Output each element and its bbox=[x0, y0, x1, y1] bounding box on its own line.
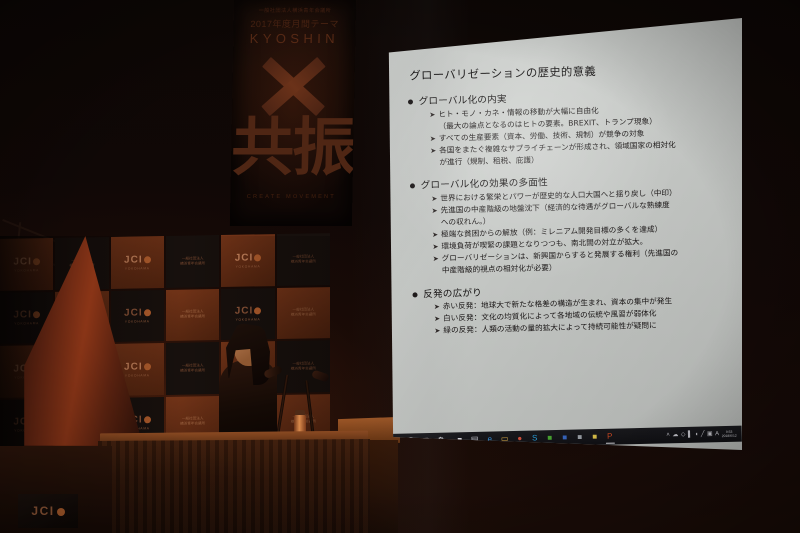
backdrop-org-text: 一般社団法人横浜青年会議所 bbox=[180, 256, 205, 266]
jci-logo-sublabel: YOKOHAMA bbox=[125, 320, 150, 324]
settings-gear[interactable]: ⚙ bbox=[434, 434, 448, 448]
backdrop-jci-logo-cell: JCIYOKOHAMA bbox=[221, 234, 274, 286]
backdrop-org-text: 一般社団法人横浜青年会議所 bbox=[291, 361, 316, 371]
volume-icon[interactable]: ◖ bbox=[695, 432, 699, 438]
backdrop-org-text: 一般社団法人横浜青年会議所 bbox=[180, 363, 205, 373]
powerpoint-app[interactable]: P bbox=[603, 430, 617, 444]
slide-block-heading-text: 反発の広がり bbox=[423, 285, 482, 300]
podium-body bbox=[98, 439, 370, 533]
banner-tagline: CREATE MOVEMENT bbox=[230, 194, 352, 200]
taskbar-clock[interactable]: 9:532018/6/12 bbox=[722, 430, 737, 439]
battery-icon[interactable]: ▌ bbox=[688, 432, 692, 438]
backdrop-jci-logo-cell: JCIYOKOHAMA bbox=[0, 238, 53, 290]
slide-sub-bullet-list: ➤ヒト・モノ・カネ・情報の移動が大幅に自由化（最大の論点となるのはヒトの要素。B… bbox=[429, 102, 737, 168]
projection-screen: グローバリゼーションの歴史的意義 グローバル化の内実➤ヒト・モノ・カネ・情報の移… bbox=[386, 18, 742, 450]
task-view[interactable]: ▢ bbox=[419, 434, 433, 448]
slide-block: グローバル化の内実➤ヒト・モノ・カネ・情報の移動が大幅に自由化（最大の論点となる… bbox=[408, 86, 738, 169]
backdrop-text-cell: 一般社団法人横浜青年会議所 bbox=[277, 233, 330, 285]
arrow-bullet-icon: ➤ bbox=[434, 314, 443, 325]
microsoft-store-glyph: ■ bbox=[457, 436, 462, 444]
app-grey-1[interactable]: ■ bbox=[573, 430, 587, 444]
slide-sub-bullet-list: ➤赤い反発：地球大で新たな格差の構造が生まれ、資本の集中が発生➤白い反発：文化の… bbox=[434, 295, 742, 337]
jci-globe-icon bbox=[144, 363, 151, 370]
jci-logo: JCI bbox=[124, 254, 151, 265]
settings-gear-glyph: ⚙ bbox=[437, 437, 444, 445]
app-green-1-glyph: ■ bbox=[547, 434, 552, 442]
slide-sub-bullet-list: ➤世界における繁栄とパワーが歴史的な人口大国へと揺り戻し（中印）➤先進国の中産階… bbox=[431, 187, 740, 277]
jci-globe-icon bbox=[144, 417, 151, 424]
app-yellow-1-glyph: ■ bbox=[592, 433, 597, 441]
slide-block-heading-text: グローバル化の効果の多面性 bbox=[420, 175, 548, 192]
task-view-glyph: ▢ bbox=[422, 437, 430, 445]
slide-block: 反発の広がり➤赤い反発：地球大で新たな格差の構造が生まれ、資本の集中が発生➤白い… bbox=[412, 279, 741, 338]
backdrop-org-text: 一般社団法人横浜青年会議所 bbox=[180, 417, 205, 427]
backdrop-jci-logo-cell: JCIYOKOHAMA bbox=[111, 290, 164, 342]
banner-romaji: KYOSHIN bbox=[233, 31, 355, 46]
jci-globe-icon bbox=[33, 311, 40, 318]
jci-stage-sign: JCI bbox=[18, 494, 78, 528]
backdrop-org-text: 一般社団法人横浜青年会議所 bbox=[291, 308, 316, 318]
slide-sub-bullet-text: への収れん。） bbox=[441, 217, 491, 229]
chrome-browser-glyph: ● bbox=[517, 435, 522, 443]
jci-globe-icon bbox=[57, 508, 65, 516]
arrow-bullet-icon: ➤ bbox=[432, 242, 441, 253]
jci-logo: JCI bbox=[13, 256, 40, 267]
jci-logo: JCI bbox=[235, 252, 262, 263]
backdrop-org-text: 一般社団法人横浜青年会議所 bbox=[180, 310, 205, 320]
action-center-icon[interactable]: ▣ bbox=[707, 431, 713, 437]
jci-logo-sublabel: YOKOHAMA bbox=[236, 264, 261, 268]
microsoft-store[interactable]: ■ bbox=[453, 433, 467, 447]
arrow-bullet-icon: ➤ bbox=[434, 302, 443, 313]
bullet-dot-icon bbox=[410, 184, 415, 189]
banner-org-line: 一般社団法人横浜青年会議所 bbox=[234, 7, 356, 14]
document-app[interactable]: ▤ bbox=[468, 433, 482, 447]
backdrop-text-cell: 一般社団法人横浜青年会議所 bbox=[166, 342, 219, 394]
clock-date: 2018/6/12 bbox=[722, 434, 737, 439]
arrow-bullet-icon: ➤ bbox=[430, 133, 439, 144]
app-grey-1-glyph: ■ bbox=[577, 433, 582, 441]
banner-theme-line: 2017年度月間テーマ bbox=[234, 17, 356, 30]
network-icon[interactable]: ◇ bbox=[681, 432, 686, 438]
file-explorer-glyph: ▭ bbox=[501, 435, 509, 443]
jci-globe-icon bbox=[144, 256, 151, 263]
arrow-bullet-icon: ➤ bbox=[431, 194, 440, 205]
jci-globe-icon bbox=[254, 308, 261, 315]
jci-logo-sublabel: YOKOHAMA bbox=[125, 373, 150, 377]
jci-logo-sublabel: YOKOHAMA bbox=[14, 321, 39, 325]
pen-icon[interactable]: ╱ bbox=[701, 431, 705, 437]
app-yellow-1[interactable]: ■ bbox=[588, 430, 602, 444]
cortana-search[interactable]: ◯ bbox=[404, 434, 418, 448]
powerpoint-app-glyph: P bbox=[607, 433, 613, 441]
backdrop-text-cell: 一般社団法人横浜青年会議所 bbox=[277, 287, 330, 339]
edge-browser-glyph: e bbox=[487, 436, 492, 444]
backdrop-org-text: 一般社団法人横浜青年会議所 bbox=[291, 254, 316, 264]
ime-indicator[interactable]: A bbox=[715, 431, 719, 437]
cortana-search-glyph: ◯ bbox=[406, 437, 415, 445]
backdrop-text-cell: 一般社団法人横浜青年会議所 bbox=[166, 289, 219, 341]
bullet-dot-icon bbox=[412, 292, 417, 297]
skype-app[interactable]: S bbox=[528, 431, 542, 445]
arrow-bullet-icon: ➤ bbox=[434, 326, 443, 337]
app-green-1[interactable]: ■ bbox=[543, 431, 557, 445]
jci-logo: JCI bbox=[124, 308, 151, 319]
banner-x-mark-icon bbox=[256, 56, 331, 116]
app-blue-1[interactable]: ■ bbox=[558, 431, 572, 445]
app-blue-1-glyph: ■ bbox=[562, 434, 567, 442]
slide-sub-bullet-text: 中産階級的視点の相対化が必要） bbox=[442, 263, 557, 276]
jci-logo: JCI bbox=[235, 306, 262, 317]
jci-sign-logo: JCI bbox=[31, 504, 64, 518]
document-app-glyph: ▤ bbox=[471, 436, 479, 444]
jci-globe-icon bbox=[33, 258, 40, 265]
start-button-glyph: ⊞ bbox=[392, 438, 399, 446]
slide-block: グローバル化の効果の多面性➤世界における繁栄とパワーが歴史的な人口大国へと揺り戻… bbox=[410, 170, 740, 277]
bullet-dot-icon bbox=[408, 99, 413, 104]
onedrive-icon[interactable]: ☁ bbox=[672, 432, 678, 438]
jci-logo-sublabel: YOKOHAMA bbox=[236, 318, 261, 322]
edge-browser[interactable]: e bbox=[483, 432, 497, 446]
slide-title: グローバリゼーションの歴史的意義 bbox=[409, 63, 596, 83]
slide-body: グローバル化の内実➤ヒト・モノ・カネ・情報の移動が大幅に自由化（最大の論点となる… bbox=[408, 86, 742, 347]
file-explorer[interactable]: ▭ bbox=[498, 432, 512, 446]
event-theme-banner: 一般社団法人横浜青年会議所 2017年度月間テーマ KYOSHIN 共振 CRE… bbox=[230, 0, 356, 226]
slide-block-heading-text: グローバル化の内実 bbox=[418, 91, 506, 107]
jci-globe-icon bbox=[144, 310, 151, 317]
arrow-bullet-icon: ➤ bbox=[431, 206, 440, 217]
arrow-bullet-icon: ➤ bbox=[433, 254, 442, 265]
backdrop-text-cell: 一般社団法人横浜青年会議所 bbox=[166, 235, 219, 287]
arrow-bullet-icon: ➤ bbox=[430, 145, 439, 156]
show-hidden-icons[interactable]: ˄ bbox=[666, 432, 670, 438]
backdrop-jci-logo-cell: JCIYOKOHAMA bbox=[111, 236, 164, 288]
projection-screen-area: グローバリゼーションの歴史的意義 グローバル化の内実➤ヒト・モノ・カネ・情報の移… bbox=[386, 18, 742, 450]
jci-logo: JCI bbox=[124, 361, 151, 372]
jci-logo-sublabel: YOKOHAMA bbox=[14, 268, 39, 272]
chrome-browser[interactable]: ● bbox=[513, 432, 527, 446]
arrow-bullet-icon: ➤ bbox=[429, 109, 438, 120]
presentation-slide: グローバリゼーションの歴史的意義 グローバル化の内実➤ヒト・モノ・カネ・情報の移… bbox=[386, 18, 742, 450]
system-tray[interactable]: ˄☁◇▌◖╱▣A9:532018/6/12 bbox=[666, 429, 739, 439]
conference-hall-photo: 一般社団法人横浜青年会議所 2017年度月間テーマ KYOSHIN 共振 CRE… bbox=[0, 0, 800, 533]
arrow-bullet-icon: ➤ bbox=[432, 230, 441, 241]
jci-logo-sublabel: YOKOHAMA bbox=[125, 266, 150, 270]
jci-globe-icon bbox=[254, 254, 261, 261]
jci-logo: JCI bbox=[13, 309, 40, 320]
banner-kanji: 共振 bbox=[231, 116, 354, 179]
slide-sub-bullet-text: が進行（規制、租税、庇護） bbox=[439, 155, 539, 168]
start-button[interactable]: ⊞ bbox=[389, 435, 403, 449]
skype-app-glyph: S bbox=[532, 434, 538, 442]
